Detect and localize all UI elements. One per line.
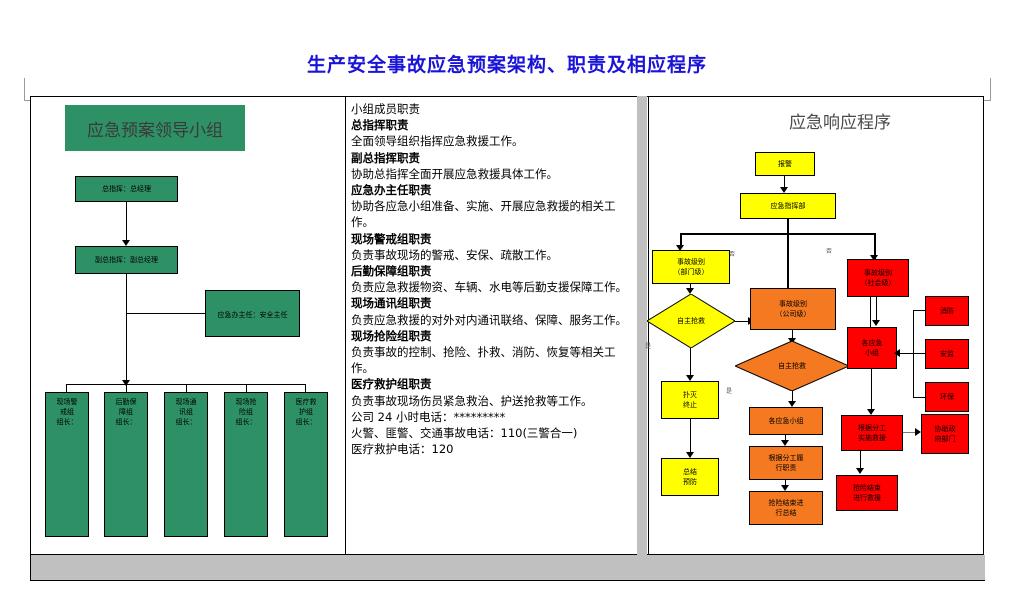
group-box-1: 现场警 戒组 组长： bbox=[45, 392, 89, 537]
node-assist-government: 协助政 府部门 bbox=[921, 414, 969, 454]
edge-bus-center bbox=[787, 233, 789, 293]
node-level-company-label: 事故级别 （公司级） bbox=[776, 299, 811, 319]
edge-label-no-2: 否 bbox=[826, 246, 832, 255]
phone-line-2: 医疗救护电话：120 bbox=[351, 441, 634, 457]
edge-agency-env bbox=[913, 397, 925, 398]
duty-body-4: 负责应急救援物资、车辆、水电等后勤支援保障工作。 bbox=[351, 279, 634, 295]
duty-body-2: 协助各应急小组准备、实施、开展应急救援的相关工作。 bbox=[351, 198, 634, 230]
edge-command-bus bbox=[680, 233, 876, 235]
group-box-1-label: 现场警 戒组 组长： bbox=[57, 397, 78, 427]
page-title: 生产安全事故应急预案架构、职责及相应程序 bbox=[0, 50, 1014, 77]
decision-self-rescue-2: 自主抢救 bbox=[735, 341, 849, 391]
edge-agency-safety bbox=[913, 353, 925, 354]
node-duty-orange: 根据分工履 行职责 bbox=[749, 446, 823, 480]
duty-title-6: 现场抢险组职责 bbox=[351, 328, 634, 344]
arrow-agency-groups bbox=[894, 349, 900, 357]
node-level-company: 事故级别 （公司级） bbox=[750, 288, 836, 330]
duty-body-7: 负责事故现场伤员紧急救治、护送抢救等工作。 bbox=[351, 393, 634, 409]
node-duty-red: 根据分工 实施救援 bbox=[841, 415, 903, 451]
node-safety-supervision: 安监 bbox=[925, 339, 969, 369]
group-box-2-label: 后勤保 障组 组长： bbox=[116, 397, 137, 427]
decision-self-rescue-1-label: 自主抢救 bbox=[677, 316, 705, 326]
node-emergency-office: 应急办主任：安全主任 bbox=[205, 290, 300, 337]
group-box-4-label: 现场抢 险组 组长： bbox=[236, 397, 257, 427]
edge-drop-5 bbox=[305, 384, 306, 392]
duties-heading: 小组成员职责 bbox=[351, 101, 634, 117]
duty-title-7: 医疗救护组职责 bbox=[351, 376, 634, 392]
edge-command-down bbox=[787, 219, 789, 234]
node-summary-prevent-label: 总结 预防 bbox=[683, 467, 697, 487]
duty-body-3: 负责事故现场的警戒、安保、疏散工作。 bbox=[351, 247, 634, 263]
divider-left-mid bbox=[345, 96, 346, 555]
duty-title-1: 副总指挥职责 bbox=[351, 150, 634, 166]
phone-line-1: 火警、匪警、交通事故电话：110(三警合一) bbox=[351, 425, 634, 441]
node-command-center: 应急指挥部 bbox=[740, 193, 836, 219]
duty-title-4: 后勤保障组职责 bbox=[351, 263, 634, 279]
edge-deputy-office bbox=[126, 313, 206, 314]
duties-text-block: 小组成员职责总指挥职责全面领导组织指挥应急救援工作。副总指挥职责协助总指挥全面开… bbox=[351, 101, 634, 457]
edge-drop-3 bbox=[186, 384, 187, 392]
node-groups-red-label: 各应急 小组 bbox=[862, 338, 883, 358]
edge-groups-duty-red bbox=[871, 369, 872, 413]
node-extinguish: 扑灭 终止 bbox=[661, 381, 719, 419]
edge-label-yes-2: 是 bbox=[726, 386, 732, 395]
node-duty-orange-label: 根据分工履 行职责 bbox=[769, 453, 804, 473]
node-fire-dept: 消防 bbox=[925, 296, 969, 326]
duty-title-2: 应急办主任职责 bbox=[351, 182, 634, 198]
node-end-orange: 抢险结束进 行总结 bbox=[749, 491, 823, 525]
node-environment-dept: 环保 bbox=[925, 382, 969, 412]
decision-self-rescue-2-label: 自主抢救 bbox=[778, 361, 806, 371]
node-deputy-commander: 副总指挥：副总经理 bbox=[75, 246, 178, 274]
node-level-social: 事故级别 （社会级） bbox=[847, 259, 909, 297]
duty-title-0: 总指挥职责 bbox=[351, 117, 634, 133]
phone-line-0: 公司 24 小时电话：********* bbox=[351, 409, 634, 425]
duty-title-3: 现场警戒组职责 bbox=[351, 231, 634, 247]
node-extinguish-label: 扑灭 终止 bbox=[683, 390, 697, 410]
duty-title-5: 现场通讯组职责 bbox=[351, 295, 634, 311]
duty-body-0: 全面领导组织指挥应急救援工作。 bbox=[351, 133, 634, 149]
edge-agency-fire bbox=[913, 310, 925, 311]
node-end-red: 抢险结束 进行救援 bbox=[836, 475, 898, 511]
edge-agency-bus bbox=[913, 310, 914, 398]
node-level-social-label: 事故级别 （社会级） bbox=[861, 268, 896, 288]
decision-self-rescue-1: 自主抢救 bbox=[647, 294, 735, 348]
node-groups-red: 各应急 小组 bbox=[847, 327, 897, 369]
edge-agency-groups bbox=[900, 353, 913, 354]
horizontal-scrollbar[interactable] bbox=[30, 555, 985, 581]
node-chief-commander: 总指挥：总经理 bbox=[75, 176, 178, 202]
edge-drop-1 bbox=[66, 384, 67, 392]
group-box-3: 现场通 讯组 组长： bbox=[164, 392, 208, 537]
duty-body-1: 协助总指挥全面开展应急救援具体工作。 bbox=[351, 166, 634, 182]
node-end-red-label: 抢险结束 进行救援 bbox=[853, 483, 881, 503]
node-duty-red-label: 根据分工 实施救援 bbox=[858, 423, 886, 443]
node-level-department: 事故级别 （部门级） bbox=[652, 250, 730, 284]
node-end-orange-label: 抢险结束进 行总结 bbox=[769, 498, 804, 518]
node-level-department-label: 事故级别 （部门级） bbox=[674, 257, 709, 277]
node-groups-orange: 各应急小组 bbox=[749, 407, 823, 435]
arrow-social-groups bbox=[872, 320, 880, 326]
group-box-5-label: 医疗救 护组 组长： bbox=[296, 397, 317, 427]
node-summary-prevent: 总结 预防 bbox=[661, 458, 719, 496]
node-assist-government-label: 协助政 府部门 bbox=[935, 424, 956, 444]
edge-chief-deputy bbox=[126, 202, 127, 244]
edge-drop-4 bbox=[246, 384, 247, 392]
group-box-2: 后勤保 障组 组长： bbox=[104, 392, 148, 537]
group-box-3-label: 现场通 讯组 组长： bbox=[176, 397, 197, 427]
arrow-duty-end-red bbox=[856, 468, 864, 474]
column-splitter[interactable] bbox=[637, 96, 647, 555]
right-panel-header: 应急响应程序 bbox=[760, 108, 920, 132]
duty-body-6: 负责事故的控制、抢险、扑救、消防、恢复等相关工作。 bbox=[351, 344, 634, 376]
node-alarm: 报警 bbox=[755, 152, 815, 176]
edge-d1-company bbox=[735, 321, 749, 322]
group-box-4: 现场抢 险组 组长： bbox=[224, 392, 268, 537]
duty-body-5: 负责应急救援的对外对内通讯联络、保障、服务工作。 bbox=[351, 312, 634, 328]
edge-deputy-down bbox=[126, 274, 127, 384]
group-box-5: 医疗救 护组 组长： bbox=[284, 392, 328, 537]
left-panel-header: 应急预案领导小组 bbox=[65, 105, 245, 151]
edge-drop-2 bbox=[126, 384, 127, 392]
